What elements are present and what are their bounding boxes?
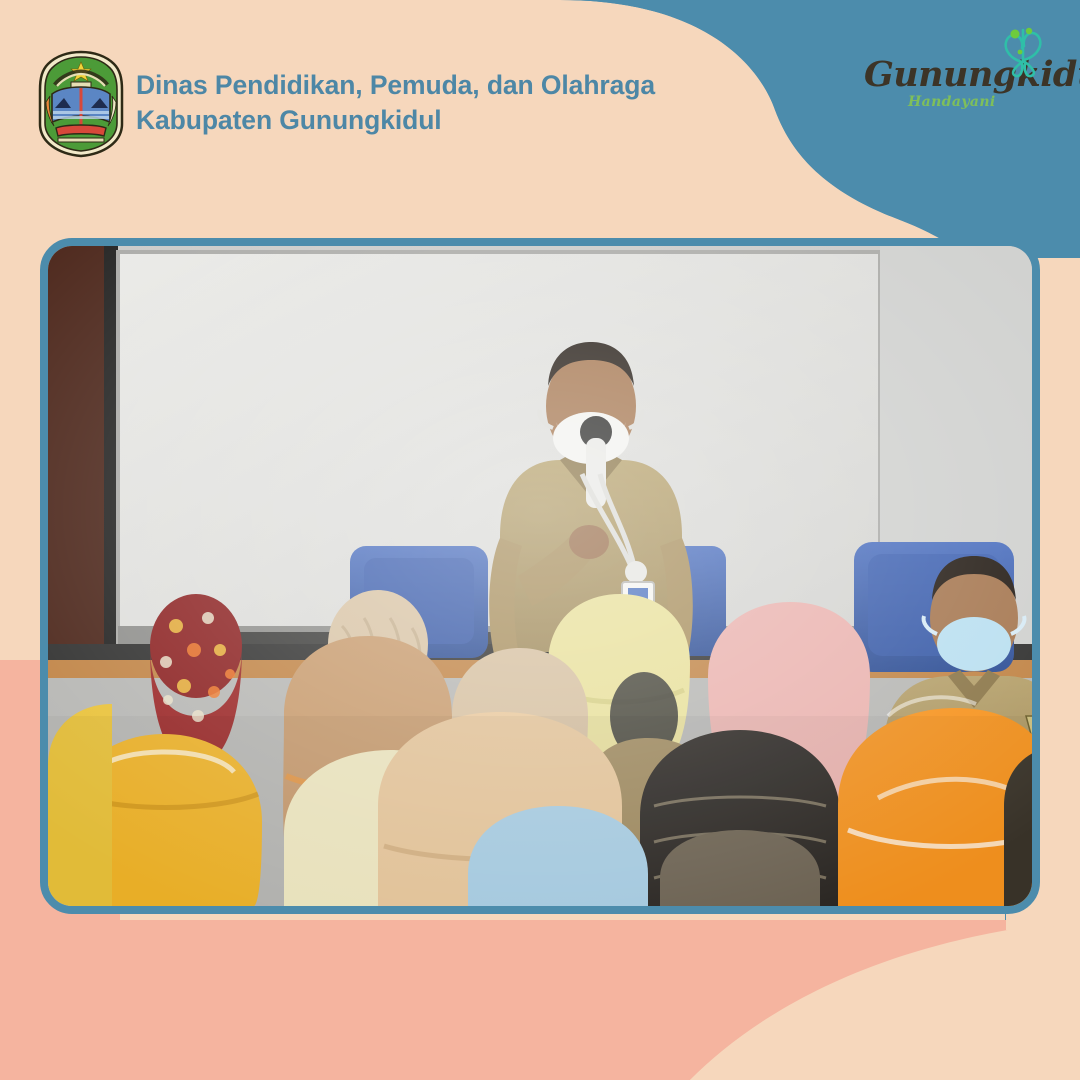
dragonfly-ornament-icon: [992, 22, 1054, 78]
brand-tagline: Handayani: [908, 94, 996, 110]
poster-canvas: Dinas Pendidikan, Pemuda, dan Olahraga K…: [0, 0, 1080, 1080]
gunungkidul-coat-of-arms-icon: [38, 50, 124, 158]
poster-footer: @dikpora_gk pendidikan.gunungkidulkab.go…: [0, 930, 1080, 1080]
poster-header: Dinas Pendidikan, Pemuda, dan Olahraga K…: [0, 0, 1080, 200]
gunungkidul-brandmark: Gunungkidul Handayani: [846, 22, 1062, 118]
event-photo: [48, 246, 1032, 906]
page-title: Dinas Pendidikan, Pemuda, dan Olahraga K…: [136, 68, 655, 138]
event-photo-card: [40, 238, 1040, 914]
